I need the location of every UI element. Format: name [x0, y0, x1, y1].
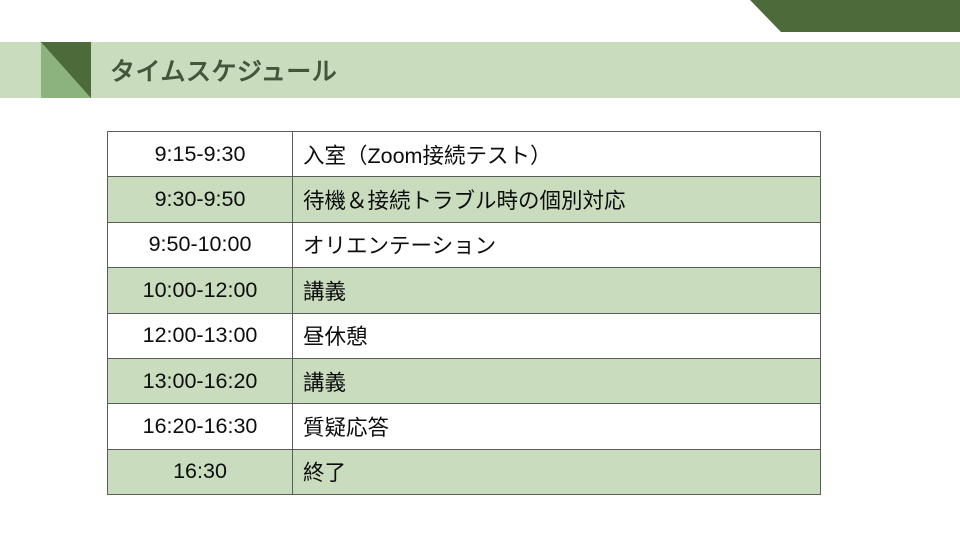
table-row: 13:00-16:20 講義 — [108, 358, 821, 403]
cell-description: 昼休憩 — [293, 313, 821, 358]
cell-description: 講義 — [293, 268, 821, 313]
cell-description: オリエンテーション — [293, 222, 821, 267]
table-row: 10:00-12:00 講義 — [108, 268, 821, 313]
cell-time: 12:00-13:00 — [108, 313, 293, 358]
cell-time: 10:00-12:00 — [108, 268, 293, 313]
schedule-table-body: 9:15-9:30 入室（Zoom接続テスト） 9:30-9:50 待機＆接続ト… — [108, 132, 821, 495]
table-row: 12:00-13:00 昼休憩 — [108, 313, 821, 358]
cell-time: 16:20-16:30 — [108, 404, 293, 449]
page-title: タイムスケジュール — [110, 42, 337, 98]
table-row: 9:30-9:50 待機＆接続トラブル時の個別対応 — [108, 177, 821, 222]
cell-time: 9:15-9:30 — [108, 132, 293, 177]
cell-time: 16:30 — [108, 449, 293, 494]
cell-description: 入室（Zoom接続テスト） — [293, 132, 821, 177]
cell-description: 講義 — [293, 358, 821, 403]
decoration-band-shape — [750, 0, 960, 32]
table-row: 9:50-10:00 オリエンテーション — [108, 222, 821, 267]
title-accent-square — [41, 42, 91, 98]
cell-time: 9:50-10:00 — [108, 222, 293, 267]
top-right-decoration — [0, 0, 960, 32]
time-schedule-table: 9:15-9:30 入室（Zoom接続テスト） 9:30-9:50 待機＆接続ト… — [107, 131, 821, 495]
table-row: 16:20-16:30 質疑応答 — [108, 404, 821, 449]
cell-description: 終了 — [293, 449, 821, 494]
cell-description: 待機＆接続トラブル時の個別対応 — [293, 177, 821, 222]
cell-time: 9:30-9:50 — [108, 177, 293, 222]
table-row: 16:30 終了 — [108, 449, 821, 494]
cell-time: 13:00-16:20 — [108, 358, 293, 403]
cell-description: 質疑応答 — [293, 404, 821, 449]
table-row: 9:15-9:30 入室（Zoom接続テスト） — [108, 132, 821, 177]
